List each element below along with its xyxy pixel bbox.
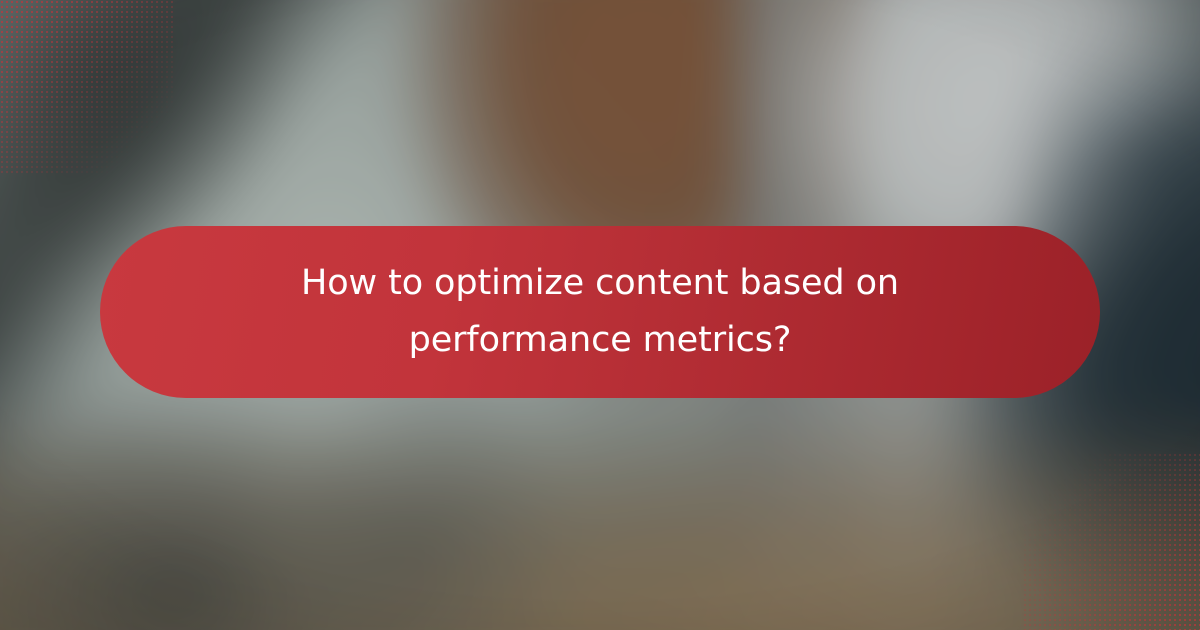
headline-title: How to optimize content based on perform… (280, 255, 920, 368)
headline-pill: How to optimize content based on perform… (100, 226, 1100, 398)
social-share-card: How to optimize content based on perform… (0, 0, 1200, 630)
